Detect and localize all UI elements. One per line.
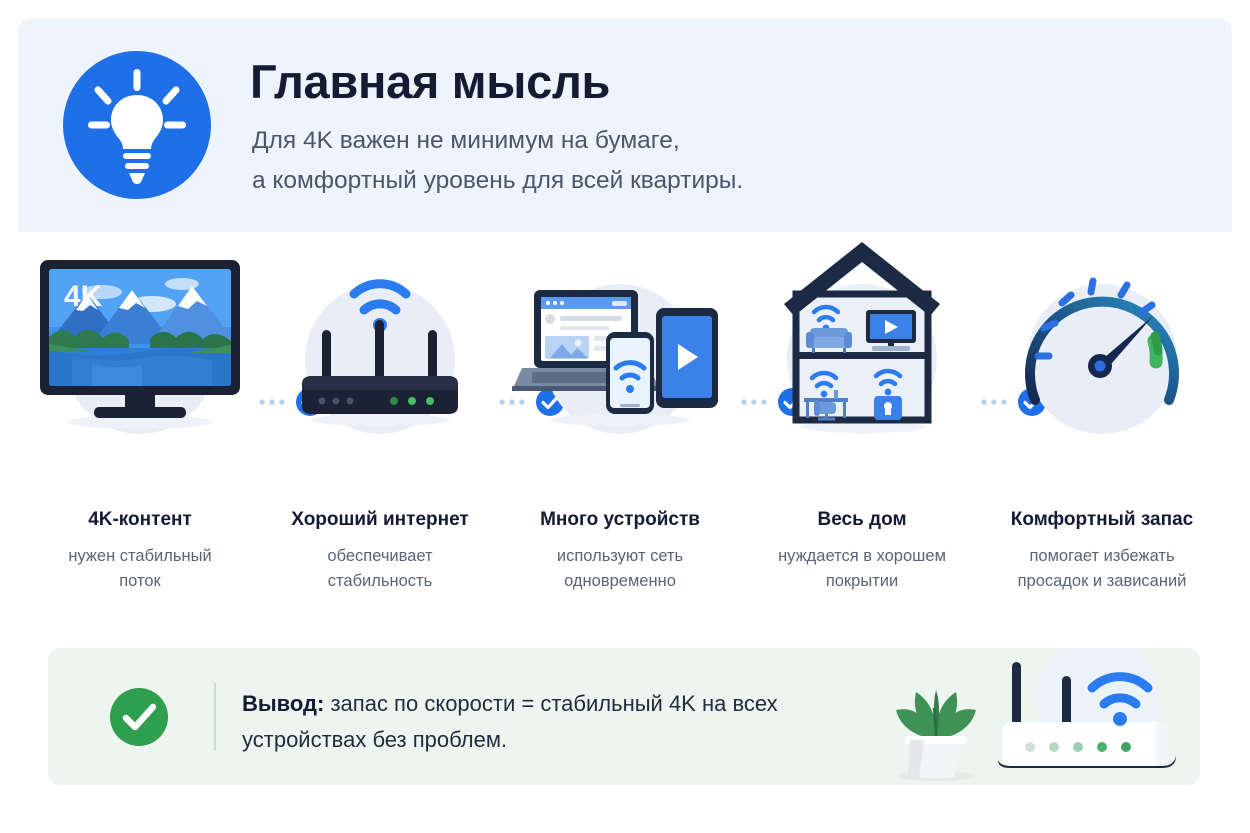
step-description: помогает избежать просадок и зависаний xyxy=(980,544,1224,594)
step-comfort-headroom[interactable]: Комфортный запас помогает избежать проса… xyxy=(994,232,1210,622)
conclusion-text: Вывод: запас по скорости = стабильный 4K… xyxy=(242,686,822,757)
multi-devices-icon xyxy=(512,232,728,450)
wifi-router-icon xyxy=(272,232,488,450)
header-band: Главная мысль Для 4K важен не минимум на… xyxy=(18,18,1232,232)
page-title: Главная мысль xyxy=(250,56,610,109)
step-title: Весь дом xyxy=(754,509,970,531)
conclusion-label: Вывод: xyxy=(242,691,324,716)
step-title: Хороший интернет xyxy=(272,509,488,531)
lightbulb-icon xyxy=(63,51,211,199)
divider xyxy=(214,683,216,751)
header-subtitle: Для 4K важен не минимум на бумаге, а ком… xyxy=(252,121,743,200)
step-many-devices[interactable]: Много устройств используют сеть одноврем… xyxy=(512,232,728,622)
step-description: обеспечивает стабильность xyxy=(258,544,502,594)
steps-row: 4K 4K-контент нужен стабильный поток xyxy=(18,232,1232,622)
step-description: нуждается в хорошем покрытии xyxy=(740,544,984,594)
conclusion-banner: Вывод: запас по скорости = стабильный 4K… xyxy=(48,648,1200,785)
step-whole-house[interactable]: Весь дом нуждается в хорошем покрытии xyxy=(754,232,970,622)
plant-and-router-icon xyxy=(880,648,1200,785)
step-description: используют сеть одновременно xyxy=(498,544,742,594)
step-title: Много устройств xyxy=(512,509,728,531)
infographic-card: Главная мысль Для 4K важен не минимум на… xyxy=(18,18,1232,815)
step-title: Комфортный запас xyxy=(994,509,1210,531)
step-4k-content[interactable]: 4K 4K-контент нужен стабильный поток xyxy=(32,232,248,622)
tv-4k-icon: 4K xyxy=(32,232,248,450)
step-description: нужен стабильный поток xyxy=(18,544,262,594)
speedometer-icon xyxy=(994,232,1210,450)
check-circle-icon xyxy=(110,688,168,746)
tv-screen-4k-label: 4K xyxy=(64,280,103,313)
step-good-internet[interactable]: Хороший интернет обеспечивает стабильнос… xyxy=(272,232,488,622)
step-title: 4K-контент xyxy=(32,509,248,531)
house-coverage-icon xyxy=(754,232,970,450)
